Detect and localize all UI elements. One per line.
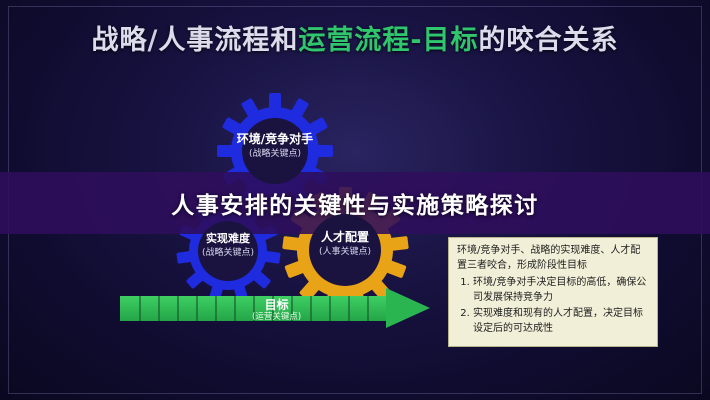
title-part-goal: 目标 [423,25,479,56]
gear-difficulty-label: 实现难度 (战略关键点) [175,232,281,259]
note-box: 环境/竞争对手、战略的实现难度、人才配置三者咬合，形成阶段性目标 环境/竞争对手… [448,237,658,347]
note-list: 环境/竞争对手决定目标的高低，确保公司发展保持竞争力 实现难度和现有的人才配置，… [457,276,649,336]
title-separator-1: / [147,25,158,56]
gear-talent-title: 人才配置 [321,230,369,244]
slide-canvas: 战略/人事流程和运营流程-目标的咬合关系 环境/竞争对手 (战略关键点) 实现难… [0,0,710,400]
gear-difficulty-subtitle: (战略关键点) [175,248,281,259]
goal-label: 目标 (运营关键点) [252,298,301,323]
title-part-relation: 的咬合关系 [479,25,619,56]
note-item-1: 环境/竞争对手决定目标的高低，确保公司发展保持竞争力 [473,276,649,305]
title-part-hr-process: 人事流程和 [158,25,298,56]
goal-title: 目标 [265,298,289,312]
gear-competitor-label: 环境/竞争对手 (战略关键点) [216,132,334,160]
note-heading: 环境/竞争对手、战略的实现难度、人才配置三者咬合，形成阶段性目标 [457,244,649,273]
gear-competitor-title: 环境/竞争对手 [237,132,313,146]
gear-competitor-subtitle: (战略关键点) [216,149,334,160]
title-part-ops-process: 运营流程 [298,25,410,56]
title-part-strategy: 战略 [91,25,147,56]
gear-difficulty-title: 实现难度 [206,232,250,245]
title-separator-2: - [410,25,422,56]
gear-talent-label: 人才配置 (人事关键点) [281,230,409,258]
slide-title: 战略/人事流程和运营流程-目标的咬合关系 [0,18,710,57]
goal-arrow-head [386,288,430,328]
gear-talent-subtitle: (人事关键点) [281,247,409,258]
goal-subtitle: (运营关键点) [252,312,301,322]
note-item-2: 实现难度和现有的人才配置，决定目标设定后的可达成性 [473,307,649,336]
